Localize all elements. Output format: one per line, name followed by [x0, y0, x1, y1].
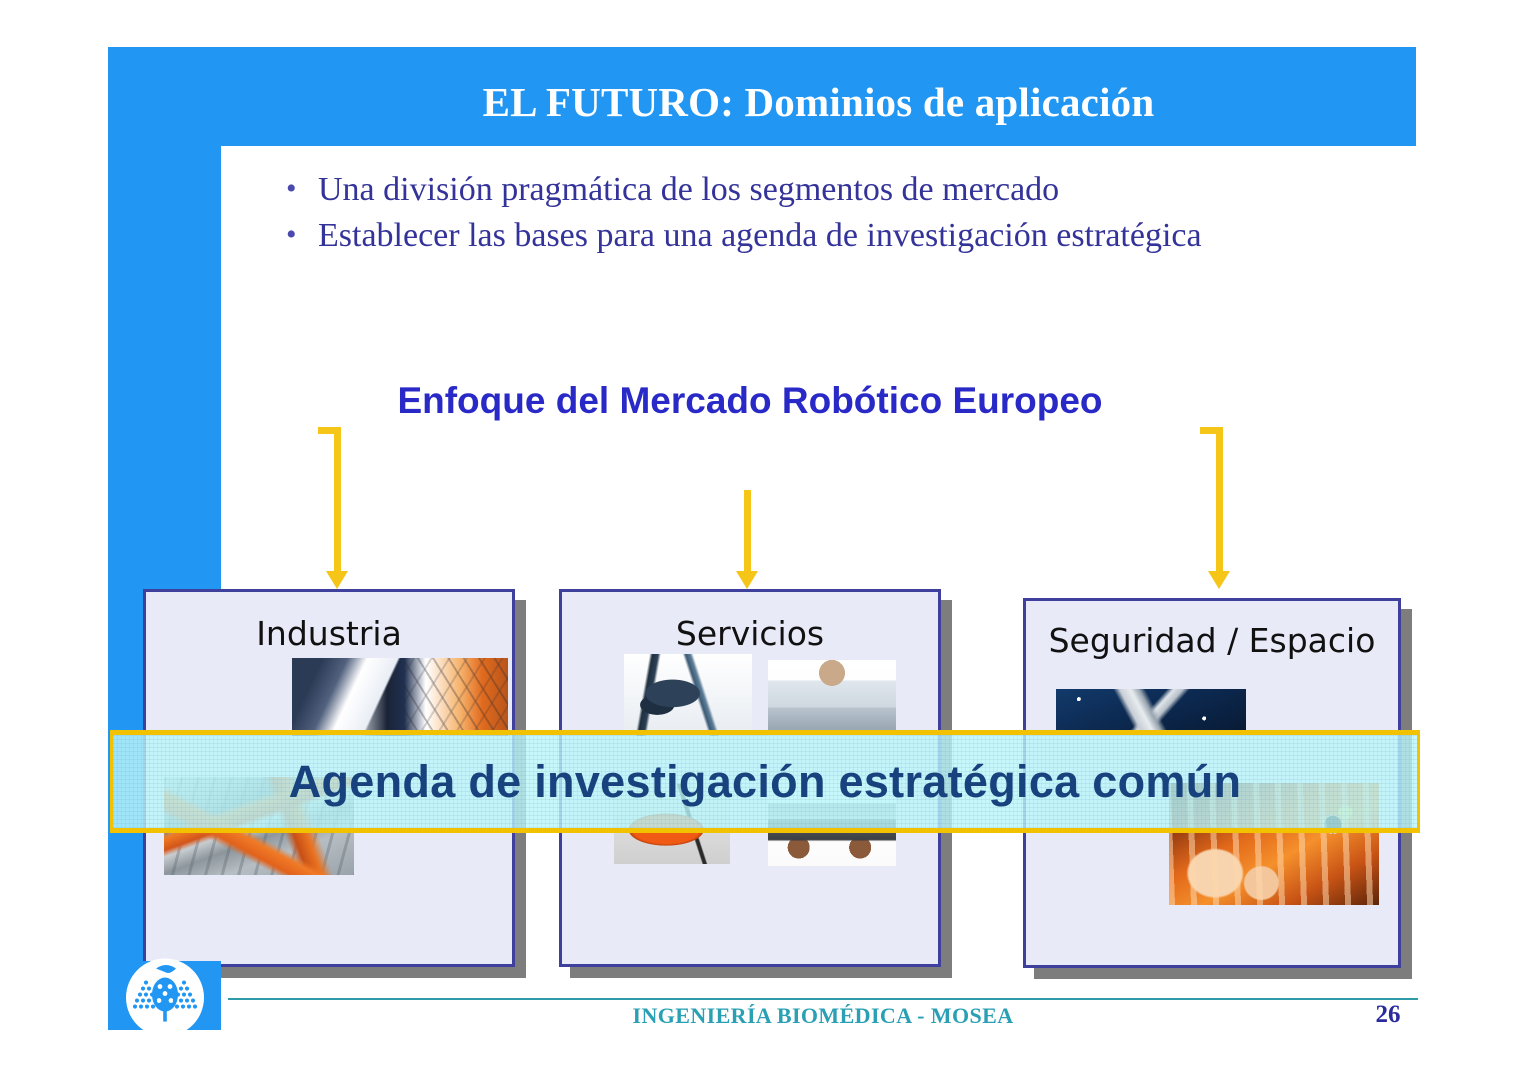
list-item: • Establecer las bases para una agenda d… [272, 216, 1362, 256]
footer-text: INGENIERÍA BIOMÉDICA - MOSEA [228, 1003, 1418, 1029]
slide-canvas: EL FUTURO: Dominios de aplicación • Una … [0, 0, 1527, 1080]
diagram-heading: Enfoque del Mercado Robótico Europeo [390, 376, 1110, 425]
elbow-arrow-down-right-icon [1194, 427, 1234, 592]
arrow-vertical-segment [1216, 427, 1223, 574]
humanoid-robot-photo [624, 654, 752, 736]
list-item: • Una división pragmática de los segment… [272, 170, 1362, 210]
logo-emblem-icon [126, 958, 204, 1036]
elbow-arrow-down-left-icon [318, 427, 358, 592]
panel-label: Servicios [562, 592, 938, 652]
straight-arrow-down-icon [736, 490, 760, 592]
panel-label: Seguridad / Espacio [1026, 601, 1398, 659]
footer-divider [228, 998, 1418, 1000]
arrow-head-icon [326, 571, 348, 589]
bullet-marker-icon: • [272, 216, 318, 254]
arrow-head-icon [736, 571, 758, 589]
panel-label: Industria [146, 592, 512, 652]
banner-text: Agenda de investigación estratégica comú… [289, 756, 1242, 808]
bullet-text: Establecer las bases para una agenda de … [318, 216, 1362, 256]
bullet-text: Una división pragmática de los segmentos… [318, 170, 1362, 210]
bullet-list: • Una división pragmática de los segment… [272, 170, 1362, 262]
satellite-space-photo [1056, 689, 1246, 735]
train-photo [292, 658, 508, 736]
arrow-head-icon [1208, 571, 1230, 589]
bullet-marker-icon: • [272, 170, 318, 208]
arrow-vertical-segment [744, 490, 751, 574]
page-title: EL FUTURO: Dominios de aplicación [221, 78, 1416, 126]
arrow-vertical-segment [334, 427, 341, 574]
person-photo [768, 660, 896, 736]
page-number: 26 [1358, 1001, 1418, 1029]
strategic-agenda-banner: Agenda de investigación estratégica comú… [110, 730, 1420, 833]
university-emblem-logo [108, 961, 221, 1030]
